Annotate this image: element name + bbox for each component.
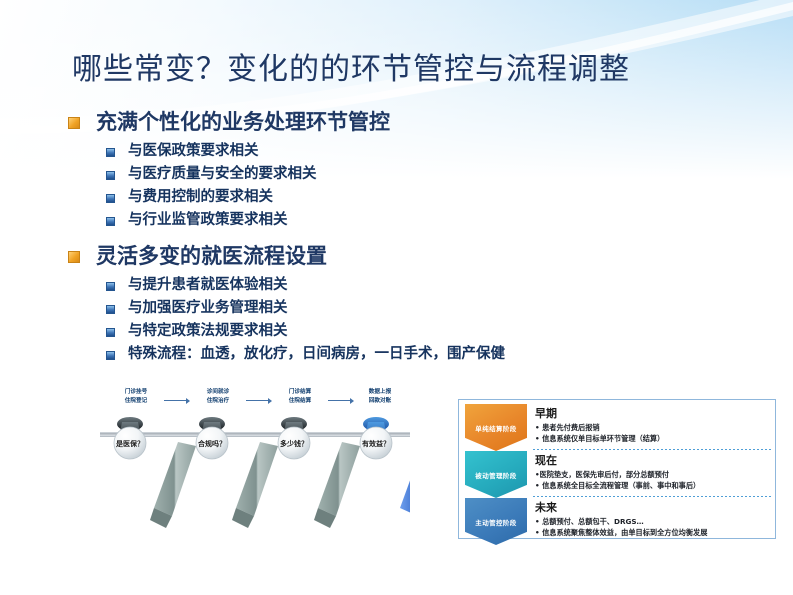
- square-bullet-icon: [106, 305, 115, 314]
- stage-chevron-3-label: 主动管控阶段: [475, 517, 516, 527]
- stage-chevron-3: 主动管控阶段: [465, 498, 527, 545]
- stage-block-2-line-2: • 信息系统全目标全流程管理（事前、事中和事后）: [535, 481, 769, 491]
- list-item-label: 与医疗质量与安全的要求相关: [128, 163, 317, 185]
- square-bullet-icon: [68, 251, 80, 263]
- process-arrow-2: [246, 400, 270, 401]
- section-heading-2-label: 灵活多变的就医流程设置: [96, 242, 327, 270]
- square-bullet-icon: [106, 351, 115, 360]
- process-bubble-diagram: 是医保？ 合规吗？ 多少钱？: [100, 416, 410, 538]
- process-node-4: 有效益？: [360, 417, 410, 516]
- list-item: 与医疗质量与安全的要求相关: [64, 163, 764, 185]
- stage-block-2-title: 现在: [535, 452, 769, 468]
- process-step-1: 门诊挂号 住院登记: [110, 388, 162, 405]
- stage-divider-2: [533, 496, 771, 497]
- square-bullet-icon: [106, 328, 115, 337]
- list-item: 与提升患者就医体验相关: [64, 274, 764, 296]
- square-bullet-icon: [106, 194, 115, 203]
- process-step-3-line1: 门诊结算: [274, 388, 326, 397]
- list-item-label: 与提升患者就医体验相关: [128, 274, 288, 296]
- svg-text:有效益？: 有效益？: [362, 439, 390, 448]
- process-arrowhead-1: [186, 398, 190, 404]
- list-item: 与行业监管政策要求相关: [64, 209, 764, 231]
- stages-panel: 单纯结算阶段 被动管理阶段 主动管控阶段 早期 • 患者先付费后报销 • 信息系…: [458, 399, 776, 539]
- process-step-2-line1: 诊间就诊: [192, 388, 244, 397]
- process-flow-graphic: 门诊挂号 住院登记 诊间就诊 住院治疗 门诊结算 住院结算 数据上报 回款对账: [100, 388, 410, 538]
- stage-block-1-line-1: • 患者先付费后报销: [535, 423, 769, 433]
- square-bullet-icon: [106, 171, 115, 180]
- stage-block-3: 未来 • 总额预付、总额包干、DRGS… • 信息系统聚焦整体效益，由单目标到全…: [535, 499, 769, 539]
- svg-text:多少钱？: 多少钱？: [280, 439, 308, 448]
- stage-chevron-1-label: 单纯结算阶段: [475, 423, 516, 433]
- process-step-1-line1: 门诊挂号: [110, 388, 162, 397]
- process-step-4: 数据上报 回款对账: [354, 388, 406, 405]
- stage-block-1-title: 早期: [535, 405, 769, 421]
- section-spacer: [64, 232, 764, 242]
- stage-text-column: 早期 • 患者先付费后报销 • 信息系统仅单目标单环节管理（结算） 现在 •医院…: [529, 404, 771, 534]
- list-item-label: 与医保政策要求相关: [128, 140, 259, 162]
- square-bullet-icon: [106, 282, 115, 291]
- stage-block-1-line-2: • 信息系统仅单目标单环节管理（结算）: [535, 434, 769, 444]
- page-title: 哪些常变？变化的的环节管控与流程调整: [72, 44, 762, 88]
- list-item: 特殊流程：血透，放化疗，日间病房，一日手术，围产保健: [64, 343, 764, 365]
- stage-chevron-1: 单纯结算阶段: [465, 404, 527, 451]
- process-step-2-line2: 住院治疗: [192, 397, 244, 406]
- stages-panel-inner: 单纯结算阶段 被动管理阶段 主动管控阶段 早期 • 患者先付费后报销 • 信息系…: [463, 404, 771, 534]
- stage-block-3-line-2: • 信息系统聚焦整体效益，由单目标到全方位均衡发展: [535, 528, 769, 538]
- content-body: 充满个性化的业务处理环节管控 与医保政策要求相关 与医疗质量与安全的要求相关 与…: [64, 108, 764, 366]
- list-item-label: 特殊流程：血透，放化疗，日间病房，一日手术，围产保健: [128, 343, 505, 365]
- list-item-label: 与加强医疗业务管理相关: [128, 297, 288, 319]
- stage-block-3-line-1: • 总额预付、总额包干、DRGS…: [535, 517, 769, 527]
- list-item: 与加强医疗业务管理相关: [64, 297, 764, 319]
- process-arrowhead-2: [268, 398, 272, 404]
- square-bullet-icon: [106, 217, 115, 226]
- stage-block-2-line-1: •医院垫支，医保先审后付，部分总额预付: [535, 470, 769, 480]
- list-item-label: 与行业监管政策要求相关: [128, 209, 288, 231]
- section-heading-2: 灵活多变的就医流程设置: [64, 242, 764, 270]
- square-bullet-icon: [106, 148, 115, 157]
- list-item-label: 与特定政策法规要求相关: [128, 320, 288, 342]
- section-heading-1: 充满个性化的业务处理环节管控: [64, 108, 764, 136]
- process-step-2: 诊间就诊 住院治疗: [192, 388, 244, 405]
- stage-divider-1: [533, 449, 771, 450]
- process-step-3-line2: 住院结算: [274, 397, 326, 406]
- process-arrow-3: [328, 400, 352, 401]
- svg-text:合规吗？: 合规吗？: [197, 439, 226, 448]
- process-step-3: 门诊结算 住院结算: [274, 388, 326, 405]
- list-item: 与医保政策要求相关: [64, 140, 764, 162]
- stage-chevron-2: 被动管理阶段: [465, 451, 527, 498]
- process-arrow-1: [164, 400, 188, 401]
- list-item: 与费用控制的要求相关: [64, 186, 764, 208]
- slide-canvas: 哪些常变？变化的的环节管控与流程调整 充满个性化的业务处理环节管控 与医保政策要…: [0, 0, 793, 595]
- stage-block-2: 现在 •医院垫支，医保先审后付，部分总额预付 • 信息系统全目标全流程管理（事前…: [535, 452, 769, 492]
- process-step-1-line2: 住院登记: [110, 397, 162, 406]
- list-item: 与特定政策法规要求相关: [64, 320, 764, 342]
- svg-text:是医保？: 是医保？: [115, 439, 144, 448]
- stage-block-1: 早期 • 患者先付费后报销 • 信息系统仅单目标单环节管理（结算）: [535, 405, 769, 445]
- square-bullet-icon: [68, 117, 80, 129]
- list-item-label: 与费用控制的要求相关: [128, 186, 273, 208]
- stage-chevron-column: 单纯结算阶段 被动管理阶段 主动管控阶段: [463, 404, 529, 534]
- process-step-4-line1: 数据上报: [354, 388, 406, 397]
- stage-block-3-title: 未来: [535, 499, 769, 515]
- stage-chevron-2-label: 被动管理阶段: [475, 470, 516, 480]
- section-heading-1-label: 充满个性化的业务处理环节管控: [96, 108, 390, 136]
- process-step-4-line2: 回款对账: [354, 397, 406, 406]
